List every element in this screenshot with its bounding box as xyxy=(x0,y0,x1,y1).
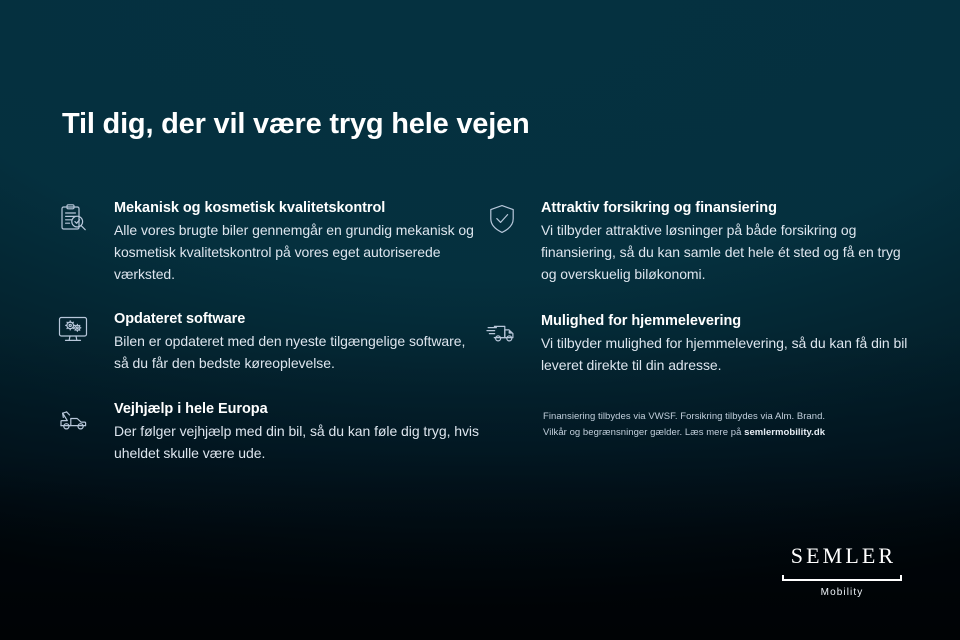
feature-description: Alle vores brugte biler gennemgår en gru… xyxy=(114,219,483,285)
feature-description: Vi tilbyder mulighed for hjemmelevering,… xyxy=(541,332,912,376)
fineprint-line-2-text: Vilkår og begrænsninger gælder. Læs mere… xyxy=(543,427,744,438)
feature-description: Der følger vejhjælp med din bil, så du k… xyxy=(114,420,483,464)
feature-item-updated-software: Opdateret software Bilen er opdateret me… xyxy=(56,311,483,374)
feature-item-insurance-financing: Attraktiv forsikring og finansiering Vi … xyxy=(485,200,912,285)
tow-truck-icon xyxy=(56,403,90,437)
feature-description: Vi tilbyder attraktive løsninger på både… xyxy=(541,219,912,285)
feature-item-quality-control: Mekanisk og kosmetisk kvalitetskontrol A… xyxy=(56,200,483,285)
fineprint-disclaimer: Finansiering tilbydes via VWSF. Forsikri… xyxy=(485,409,912,442)
logo-divider-bar xyxy=(782,579,902,581)
features-column-right: Attraktiv forsikring og finansiering Vi … xyxy=(483,200,912,490)
shield-check-icon xyxy=(485,202,519,236)
feature-title: Vejhjælp i hele Europa xyxy=(114,401,483,417)
logo-wordmark: SEMLER xyxy=(782,545,902,567)
feature-description: Bilen er opdateret med den nyeste tilgæn… xyxy=(114,330,483,374)
feature-item-roadside-assistance: Vejhjælp i hele Europa Der følger vejhjæ… xyxy=(56,401,483,464)
clipboard-check-magnifier-icon xyxy=(56,202,90,236)
features-columns: Mekanisk og kosmetisk kvalitetskontrol A… xyxy=(56,200,912,490)
fineprint-line-2: Vilkår og begrænsninger gælder. Læs mere… xyxy=(543,425,912,441)
monitor-gears-icon xyxy=(56,313,90,347)
features-column-left: Mekanisk og kosmetisk kvalitetskontrol A… xyxy=(56,200,483,490)
feature-title: Mulighed for hjemmelevering xyxy=(541,313,912,329)
fineprint-line-1: Finansiering tilbydes via VWSF. Forsikri… xyxy=(543,409,912,425)
logo-subtext: Mobility xyxy=(782,587,902,598)
feature-item-home-delivery: Mulighed for hjemmelevering Vi tilbyder … xyxy=(485,313,912,376)
logo-divider xyxy=(782,574,902,581)
slide-background: Til dig, der vil være tryg hele vejen xyxy=(0,0,960,640)
fineprint-link[interactable]: semlermobility.dk xyxy=(744,427,825,438)
page-title: Til dig, der vil være tryg hele vejen xyxy=(62,108,530,141)
delivery-truck-icon xyxy=(485,315,519,349)
semler-mobility-logo: SEMLER Mobility xyxy=(782,545,902,598)
feature-title: Opdateret software xyxy=(114,311,483,327)
feature-title: Attraktiv forsikring og finansiering xyxy=(541,200,912,216)
feature-title: Mekanisk og kosmetisk kvalitetskontrol xyxy=(114,200,483,216)
